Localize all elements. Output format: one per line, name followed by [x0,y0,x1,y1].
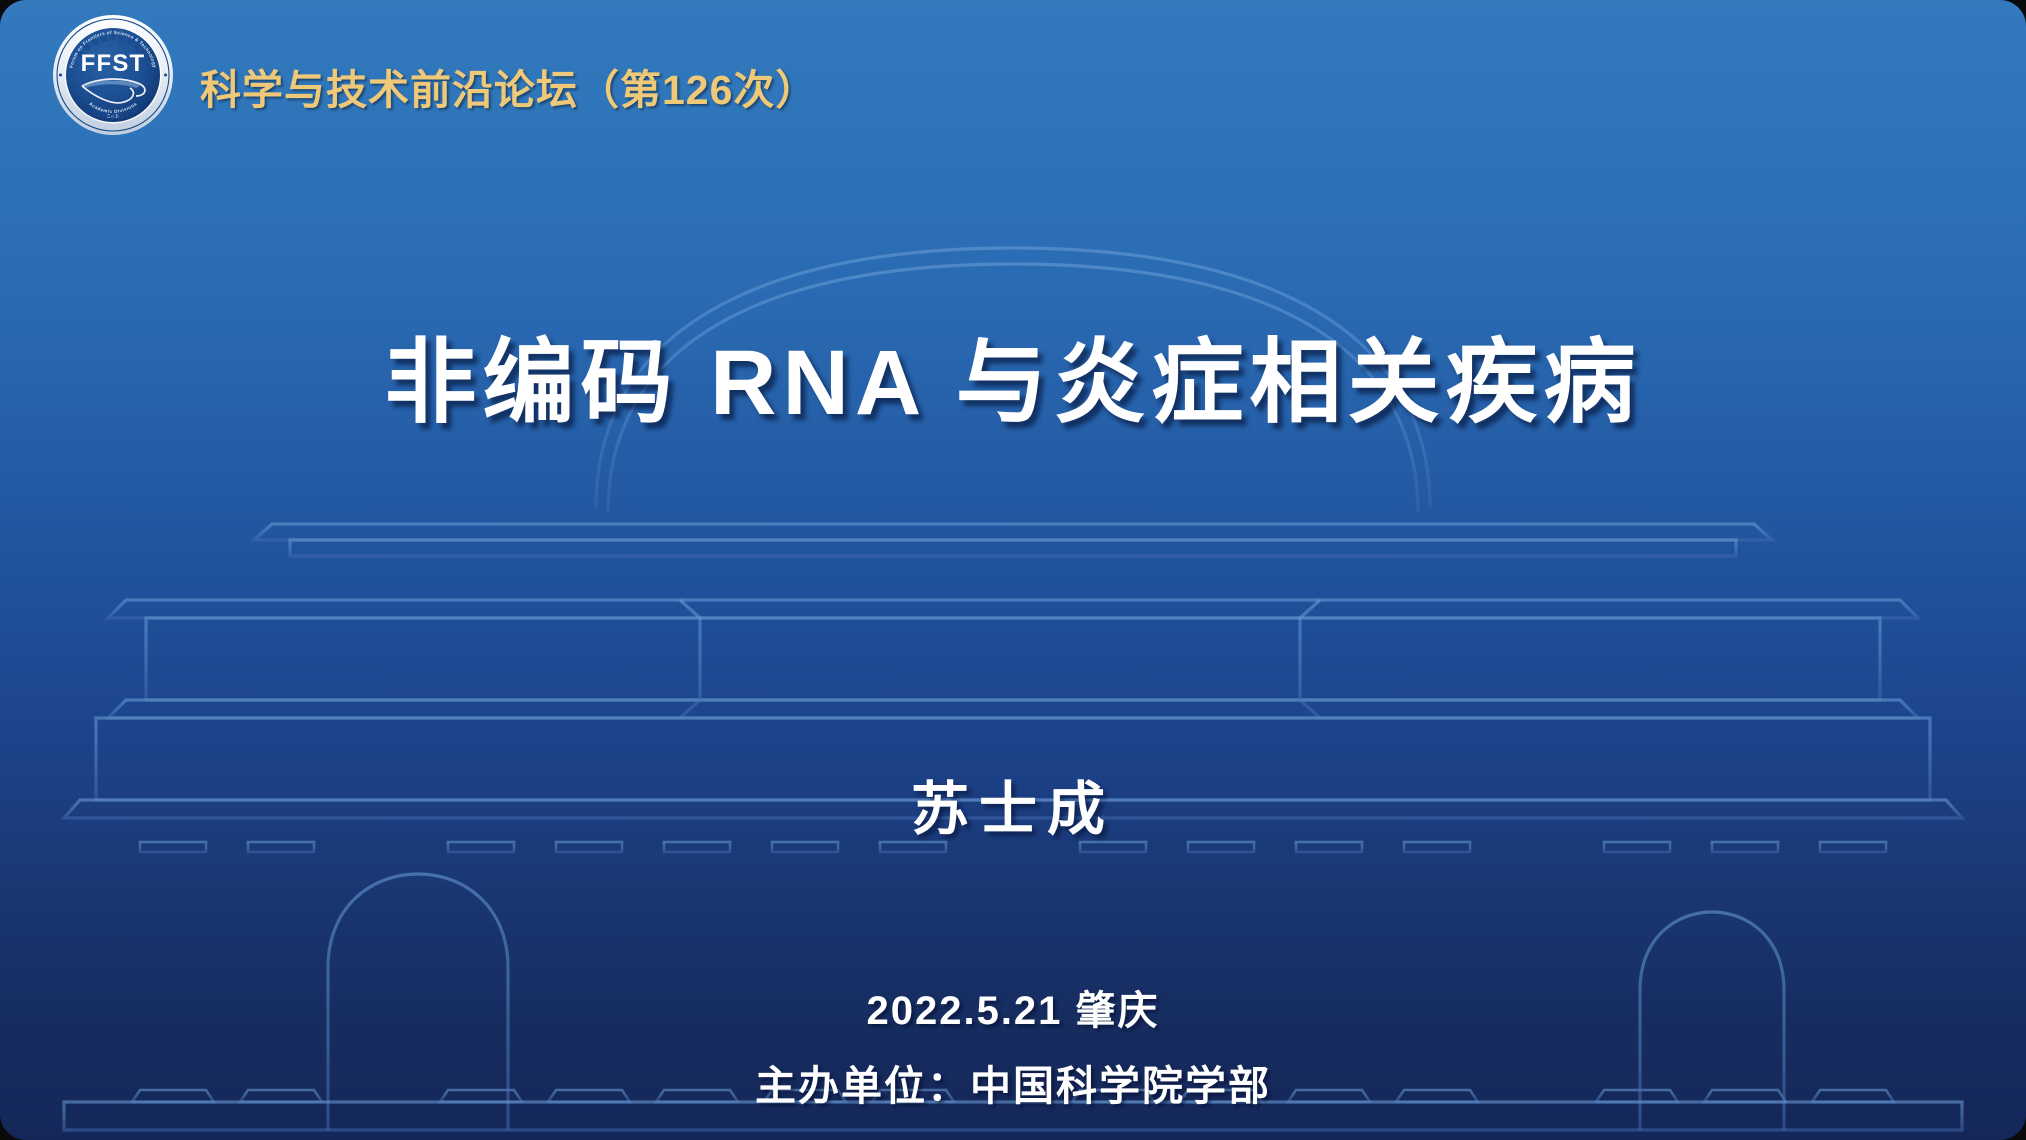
ffst-emblem-icon: 科学与技术前沿论坛 Forum on Frontiers of Science … [52,14,174,136]
slide-footer: 2022.5.21 肇庆 主办单位：中国科学院学部 [0,978,2026,1112]
background-building-illustration [0,0,2026,1140]
forum-name: 科学与技术前沿论坛（第126次） [200,34,817,116]
title-slide: 科学与技术前沿论坛 Forum on Frontiers of Science … [0,0,2026,1140]
page-title: 非编码 RNA 与炎症相关疾病 [0,308,2026,441]
date-location: 2022.5.21 肇庆 [0,978,2026,1036]
host-organization: 主办单位：中国科学院学部 [0,1052,2026,1112]
slide-header: 科学与技术前沿论坛 Forum on Frontiers of Science … [52,14,817,136]
svg-text:FFST: FFST [81,50,146,77]
speaker-name: 苏士成 [0,762,2026,846]
